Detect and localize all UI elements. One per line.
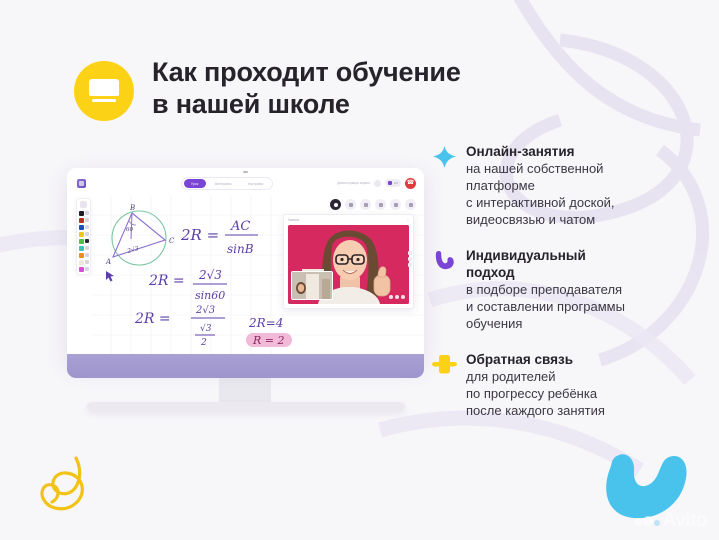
svg-text:sin60: sin60 <box>195 289 225 302</box>
participants-badge[interactable]: 2/2 <box>385 179 401 187</box>
whiteboard-toolbar[interactable] <box>330 198 416 211</box>
swatch <box>79 218 84 223</box>
monitor-screen: Урок Материалы Настройки Демонстрация эк… <box>67 168 424 364</box>
palette-row[interactable] <box>79 224 89 230</box>
svg-text:2R =: 2R = <box>134 311 171 327</box>
monitor-stand-neck <box>219 378 271 404</box>
plus-icon <box>432 353 457 378</box>
svg-text:2R =: 2R = <box>180 226 219 244</box>
palette-row[interactable] <box>79 245 89 251</box>
avito-label: Avito <box>663 510 707 532</box>
features-list: Онлайн-занятия на нашей собственной плат… <box>432 143 682 438</box>
color-palette[interactable] <box>76 198 91 275</box>
tab-materials[interactable]: Материалы <box>208 179 239 188</box>
video-panel[interactable]: Камера ─ <box>283 214 414 309</box>
swatch <box>79 211 84 216</box>
svg-text:C: C <box>169 237 175 245</box>
eraser-icon[interactable] <box>345 199 356 210</box>
palette-row[interactable] <box>79 259 89 265</box>
video-feed <box>288 225 409 304</box>
hangup-icon[interactable]: ☎ <box>405 178 416 189</box>
svg-text:60: 60 <box>126 227 133 233</box>
shapes-icon[interactable] <box>360 199 371 210</box>
svg-text:sinB: sinB <box>227 242 254 256</box>
whiteboard-app: Урок Материалы Настройки Демонстрация эк… <box>67 174 424 364</box>
video-side-controls[interactable] <box>407 251 412 273</box>
svg-text:2R=4: 2R=4 <box>248 316 283 330</box>
participants-count: 2/2 <box>394 181 398 185</box>
feature-title: Онлайн-занятия <box>466 144 615 160</box>
swatch <box>79 260 84 265</box>
palette-row[interactable] <box>79 266 89 272</box>
svg-text:2√3: 2√3 <box>198 268 222 282</box>
avito-logo-icon <box>634 516 660 526</box>
svg-text:2√3: 2√3 <box>195 305 215 316</box>
feature-title: Обратная связь <box>466 352 605 368</box>
video-minimize-icon[interactable]: ─ <box>407 218 409 222</box>
palette-row[interactable] <box>79 210 89 216</box>
swatch <box>79 232 84 237</box>
plus-icon[interactable] <box>405 199 416 210</box>
cyan-blob-decoration <box>606 454 686 518</box>
swatch <box>79 239 84 244</box>
people-icon <box>388 181 392 185</box>
feature-title: Индивидуальный подход <box>466 248 625 281</box>
star-icon <box>432 145 457 170</box>
monitor-icon <box>74 61 134 121</box>
svg-text:√3: √3 <box>200 323 212 334</box>
feature-body: в подборе преподавателя и составлении пр… <box>466 282 625 333</box>
palette-row[interactable] <box>79 217 89 223</box>
feature-body: на нашей собственной платформе с интерак… <box>466 161 615 229</box>
swatch <box>79 253 84 258</box>
video-panel-header: Камера ─ <box>284 215 413 224</box>
whiteboard-result: R = 2 <box>252 334 285 347</box>
undo-icon[interactable] <box>390 199 401 210</box>
feature-item: Обратная связь для родителей по прогресс… <box>432 351 682 420</box>
app-segmented-control[interactable]: Урок Материалы Настройки <box>181 177 273 190</box>
video-pip[interactable] <box>291 271 333 300</box>
screen-share-label: Демонстрация экрана <box>337 181 370 185</box>
feature-body: для родителей по прогрессу ребёнка после… <box>466 369 605 420</box>
text-icon[interactable] <box>375 199 386 210</box>
pen-icon[interactable] <box>330 199 341 210</box>
video-title: Камера <box>288 218 299 222</box>
tab-lesson[interactable]: Урок <box>184 179 206 188</box>
avito-watermark: Avito <box>634 510 707 532</box>
monitor-mockup: Урок Материалы Настройки Демонстрация эк… <box>67 168 424 421</box>
app-topbar-right: Демонстрация экрана 2/2 ☎ <box>337 177 416 189</box>
app-logo-icon <box>77 179 86 188</box>
monitor-chin <box>67 354 424 378</box>
swatch <box>79 225 84 230</box>
lock-icon[interactable] <box>80 201 87 208</box>
swatch <box>79 246 84 251</box>
poster-canvas: Как проходит обучение в нашей школе Урок… <box>0 0 719 540</box>
palette-row[interactable] <box>79 231 89 237</box>
svg-text:B: B <box>129 204 135 212</box>
tab-settings[interactable]: Настройки <box>241 179 271 188</box>
palette-row[interactable] <box>79 252 89 258</box>
video-controls[interactable] <box>389 295 405 299</box>
feature-item: Индивидуальный подход в подборе преподав… <box>432 247 682 333</box>
svg-text:2√3: 2√3 <box>126 245 140 255</box>
palette-row[interactable] <box>79 238 89 244</box>
app-topbar: Урок Материалы Настройки Демонстрация эк… <box>67 174 424 192</box>
feature-item: Онлайн-занятия на нашей собственной плат… <box>432 143 682 229</box>
gear-icon[interactable] <box>374 180 381 187</box>
svg-text:A: A <box>105 258 111 266</box>
svg-text:2: 2 <box>200 338 207 348</box>
webcam-notch <box>243 171 248 173</box>
page-title: Как проходит обучение в нашей школе <box>152 57 461 121</box>
page-header: Как проходит обучение в нашей школе <box>74 57 461 121</box>
yellow-squiggle-decoration <box>42 458 82 509</box>
swatch <box>79 267 84 272</box>
monitor-stand-base <box>87 402 405 411</box>
svg-text:AC: AC <box>230 219 250 234</box>
curve-icon <box>432 249 457 274</box>
svg-text:2R =: 2R = <box>148 273 185 289</box>
